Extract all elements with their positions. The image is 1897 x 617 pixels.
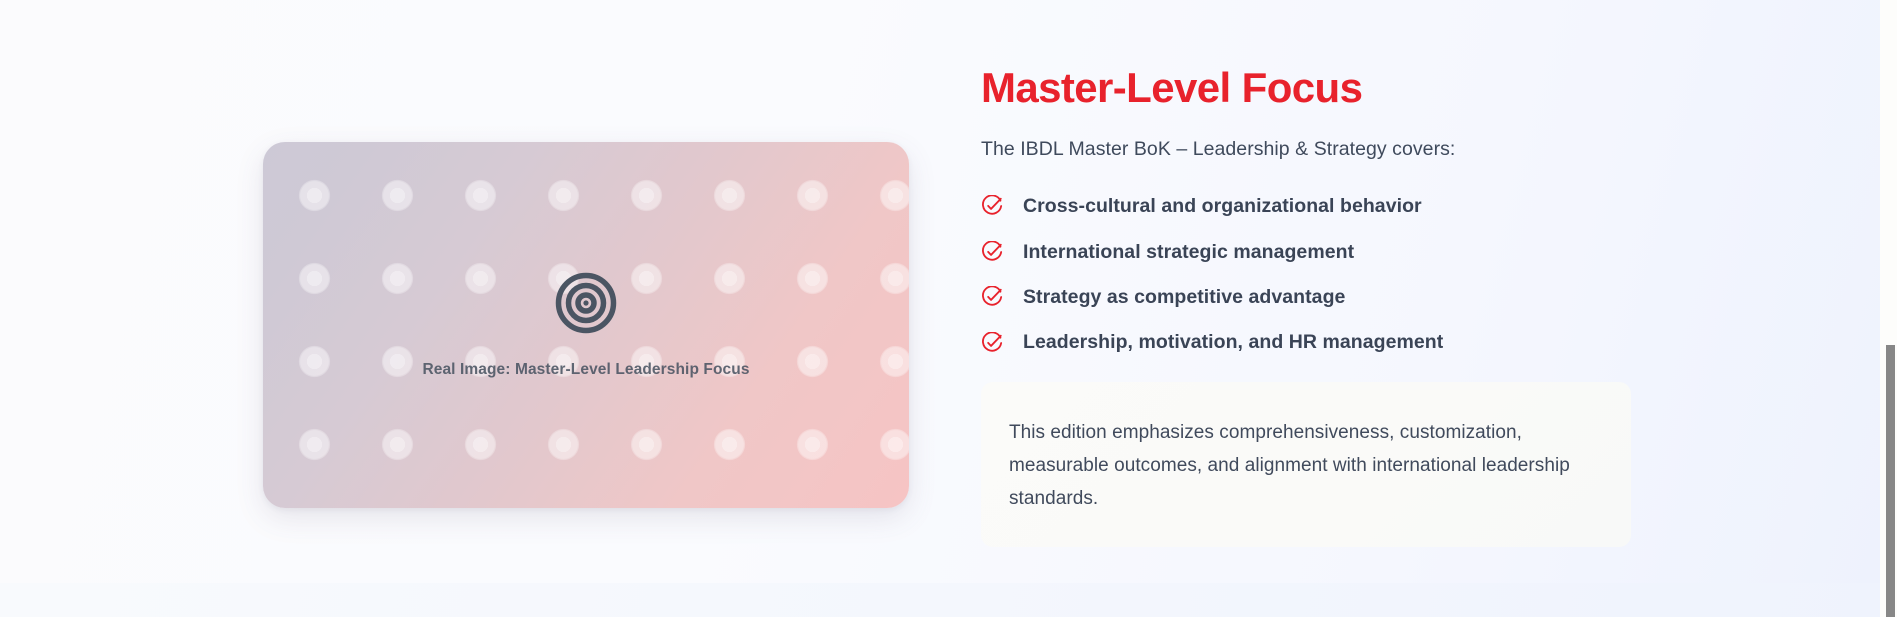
text-column: Master-Level Focus The IBDL Master BoK –…	[981, 64, 1681, 547]
callout-text: This edition emphasizes comprehensivenes…	[1009, 416, 1591, 515]
target-icon	[555, 272, 617, 339]
master-level-focus-section: Real Image: Master-Level Leadership Focu…	[0, 0, 1897, 583]
list-item: International strategic management	[981, 240, 1681, 264]
page-scrollbar[interactable]	[1880, 0, 1897, 617]
media-caption: Real Image: Master-Level Leadership Focu…	[422, 361, 749, 379]
page-title: Master-Level Focus	[981, 64, 1681, 111]
section-intro-text: The IBDL Master BoK – Leadership & Strat…	[981, 135, 1681, 164]
next-section-strip	[0, 583, 1897, 617]
list-item: Leadership, motivation, and HR managemen…	[981, 330, 1681, 354]
feature-label: Strategy as competitive advantage	[1023, 285, 1345, 309]
leadership-focus-image-card: Real Image: Master-Level Leadership Focu…	[263, 142, 909, 508]
check-circle-icon	[981, 332, 1003, 354]
check-circle-icon	[981, 286, 1003, 308]
list-item: Strategy as competitive advantage	[981, 285, 1681, 309]
feature-label: Cross-cultural and organizational behavi…	[1023, 194, 1422, 218]
feature-list: Cross-cultural and organizational behavi…	[981, 194, 1681, 355]
card-content: Real Image: Master-Level Leadership Focu…	[263, 142, 909, 508]
media-column: Real Image: Master-Level Leadership Focu…	[263, 142, 909, 508]
feature-label: International strategic management	[1023, 240, 1354, 264]
edition-highlight-callout: This edition emphasizes comprehensivenes…	[981, 382, 1631, 547]
check-circle-icon	[981, 195, 1003, 217]
check-circle-icon	[981, 241, 1003, 263]
section-content-wrapper: Real Image: Master-Level Leadership Focu…	[0, 0, 1880, 583]
scrollbar-thumb[interactable]	[1886, 345, 1895, 617]
feature-label: Leadership, motivation, and HR managemen…	[1023, 330, 1443, 354]
list-item: Cross-cultural and organizational behavi…	[981, 194, 1681, 218]
